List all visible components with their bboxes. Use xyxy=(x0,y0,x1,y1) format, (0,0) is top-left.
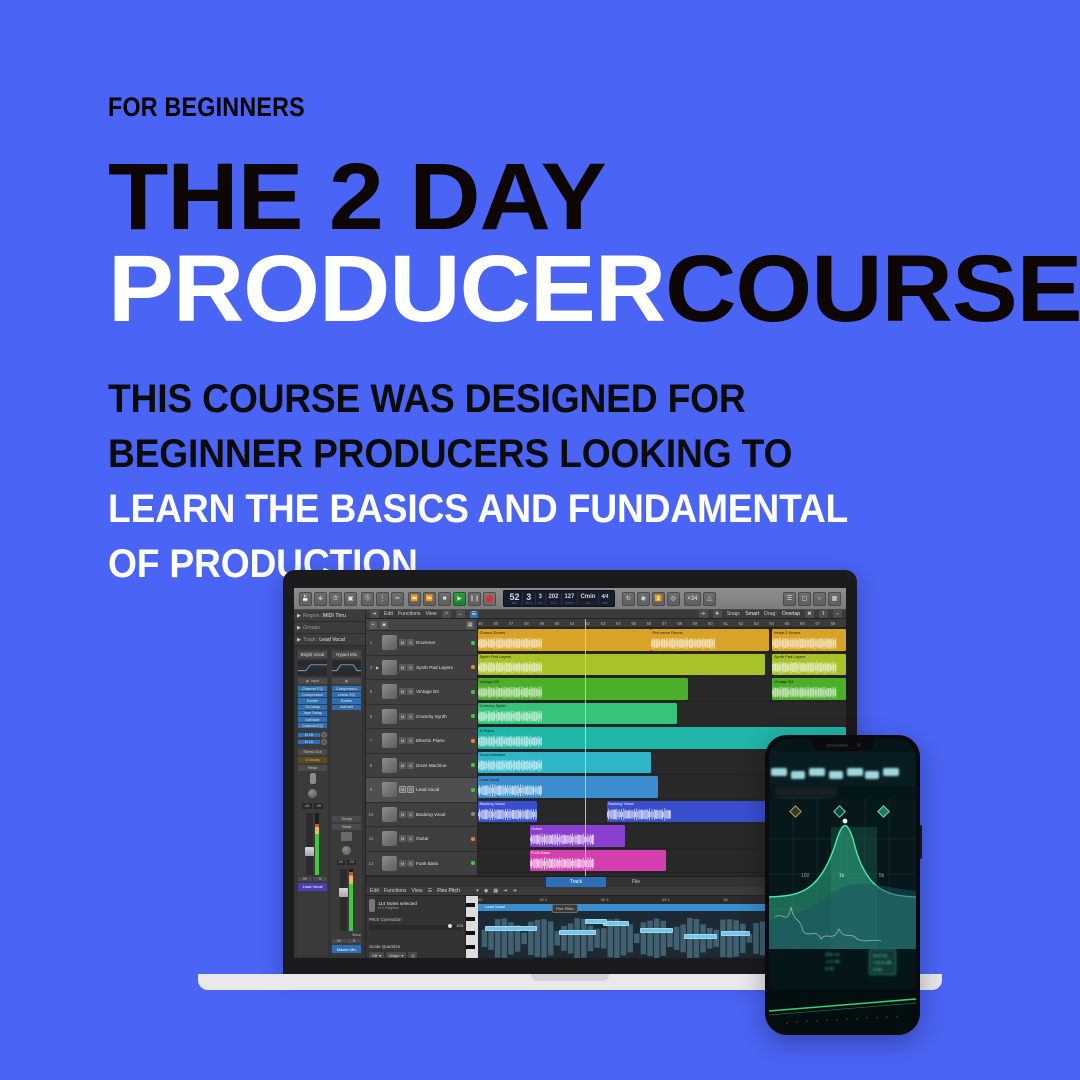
track-config-icon[interactable]: ▤ xyxy=(466,621,474,629)
scissors-icon[interactable]: ✂ xyxy=(391,592,404,606)
track-name: Vintage B3 xyxy=(416,689,469,694)
list-editors-icon[interactable]: ☰ xyxy=(783,592,796,606)
mute-button[interactable]: M xyxy=(399,737,406,744)
eq-thumbnail[interactable] xyxy=(332,660,361,676)
flex-tool-icon[interactable]: ↔ xyxy=(456,610,465,618)
solo-button[interactable]: S xyxy=(347,939,361,943)
region-waveform xyxy=(772,686,836,699)
lcd-key: Cmin KEY xyxy=(578,593,599,605)
solo-icon[interactable]: ◎ xyxy=(667,592,680,606)
pitch-correction-value: 100 xyxy=(456,923,463,928)
chevron-down-icon: ▾ xyxy=(379,953,381,958)
microphone-icon[interactable] xyxy=(382,782,397,797)
track-name: Synth Pad Layers xyxy=(416,665,469,670)
volume-fader[interactable] xyxy=(340,869,347,931)
level-value[interactable]: -99 xyxy=(314,803,324,808)
daw-window: 💾 ⎈ ⏱ ▣ Ⓢ ⋮ ✂ ⏪ ⏩ ■ ▶ ❙ xyxy=(294,588,846,958)
record-enable-indicator[interactable] xyxy=(471,788,475,792)
drag-value[interactable]: Overlap xyxy=(782,611,800,617)
mute-button[interactable]: M xyxy=(399,860,406,867)
waveform-clip[interactable] xyxy=(791,771,805,779)
lcd-tempo-value: 127 xyxy=(564,593,574,602)
add-track-icon[interactable]: + xyxy=(369,621,377,629)
channel-track-name[interactable]: Master Mix xyxy=(332,945,361,953)
send-knob[interactable] xyxy=(321,739,327,745)
flex-pitch-note[interactable] xyxy=(721,931,750,936)
region[interactable]: Crunchy Synth xyxy=(478,703,677,725)
plugin-list: Channel EQ Compressor Exciter St-Delay T… xyxy=(298,686,327,728)
region[interactable]: Funk Bass xyxy=(530,850,666,872)
channel-strip-bright-vocal[interactable]: Bright Vocal ◉ Input xyxy=(297,649,328,955)
record-enable-indicator[interactable] xyxy=(471,763,475,767)
mute-button[interactable]: M xyxy=(399,664,406,671)
solo-button[interactable]: S xyxy=(407,786,414,793)
flex-active-icon[interactable]: ☰ xyxy=(470,611,479,618)
region[interactable]: Lead Vocal xyxy=(478,776,658,798)
track-row[interactable]: 6MSCrunchy Synth xyxy=(366,705,477,730)
mute-button[interactable]: M xyxy=(399,688,406,695)
ruler-tick: 56 xyxy=(647,621,652,626)
region-name: Vintage B3 xyxy=(478,678,688,684)
record-enable-indicator[interactable] xyxy=(471,861,475,865)
drummer-icon[interactable] xyxy=(382,635,397,650)
region-name: Funk Bass xyxy=(530,850,666,856)
region[interactable]: Verse 2 Drums xyxy=(772,629,846,651)
flex-enable-icon[interactable]: ☰ xyxy=(428,888,433,894)
plugin-slot[interactable]: Channel EQ xyxy=(298,723,327,728)
metronome-icon[interactable]: Ⓢ xyxy=(361,592,374,606)
solo-button[interactable]: S xyxy=(313,877,327,881)
replace-icon[interactable]: ◉ xyxy=(637,592,650,606)
region-name: Chorus Drums xyxy=(478,629,651,635)
headline-producer-word: PRODUCER xyxy=(108,236,665,342)
track-number: 10 xyxy=(368,812,374,817)
eq-graph[interactable]: 100 1k 5k xyxy=(769,799,916,973)
menu-functions[interactable]: Functions xyxy=(398,611,421,617)
toolbar-far-right-group: ☰ ▢ ○ ▦ xyxy=(783,592,841,606)
lcd-tick: 202 TICK xyxy=(546,593,562,605)
group-slot[interactable]: Group xyxy=(332,816,361,822)
zoom-icon[interactable]: ⇔ xyxy=(833,610,842,618)
window-icon[interactable]: ▣ xyxy=(344,592,357,606)
input-slot[interactable]: ◉ xyxy=(332,678,361,684)
headline-line-1-text: THE 2 DAY xyxy=(108,153,606,241)
region-name: Drum Machine xyxy=(478,752,651,758)
forward-icon[interactable]: ⏩ xyxy=(423,592,436,606)
region-waveform xyxy=(478,759,542,772)
track-number: 2 xyxy=(368,665,374,670)
eq-thumbnail[interactable] xyxy=(298,660,327,676)
record-enable-indicator[interactable] xyxy=(471,641,475,645)
record-icon[interactable] xyxy=(483,592,496,606)
waveform-clip[interactable] xyxy=(883,768,899,776)
lcd-display[interactable]: 52 BAR 3 BEAT 3 DIV 202 xyxy=(503,590,615,607)
phone-mockup: 100 1k 5k 265 Hz -4.0 dB 0.30 xyxy=(765,735,920,1035)
level-value[interactable]: -08 xyxy=(347,860,357,865)
plugin-slot[interactable]: Tape Delay xyxy=(298,711,327,716)
region-waveform xyxy=(478,784,542,797)
lcd-beat-value: 3 xyxy=(526,593,531,602)
piano-key-black[interactable] xyxy=(466,945,475,949)
plugin-slot[interactable]: DeEsser xyxy=(298,717,327,722)
svg-text:5k: 5k xyxy=(879,873,885,879)
bass-amp-icon[interactable] xyxy=(382,856,397,871)
mute-solo-row: M S xyxy=(298,877,327,881)
secondary-tool-icon[interactable]: ✚ xyxy=(713,610,722,618)
region[interactable]: Drum Machine xyxy=(478,752,651,774)
input-slot[interactable]: ◉ Input xyxy=(298,678,327,684)
region-name: Vintage B3 xyxy=(772,678,846,684)
fade-tool-icon[interactable]: ‖ xyxy=(819,610,828,618)
low-latency-icon[interactable]: ⏫ xyxy=(652,592,665,606)
plugin-slot[interactable]: Linear EQ xyxy=(332,692,361,697)
body-line-1: THIS COURSE WAS DESIGNED FOR xyxy=(108,372,945,427)
pitch-correction-slider[interactable]: 100 xyxy=(369,925,462,930)
plugin-slot[interactable]: Channel EQ xyxy=(298,686,327,691)
automation-mode[interactable]: Read xyxy=(298,765,327,771)
ruler-tick: 50 xyxy=(555,621,560,626)
lcd-beat: 3 BEAT xyxy=(523,593,536,605)
ruler-tick: 48 xyxy=(524,621,529,626)
notes-icon[interactable]: ○ xyxy=(813,592,826,606)
camera-icon xyxy=(857,743,861,747)
ruler-tick: 49 xyxy=(539,621,544,626)
level-readouts: -65 -99 xyxy=(298,803,327,808)
flex-pitch-note[interactable] xyxy=(559,930,596,935)
scale-type-select[interactable]: Major▾ xyxy=(386,952,406,958)
marquee-icon[interactable]: ✖ xyxy=(805,610,814,618)
organ-icon[interactable] xyxy=(382,684,397,699)
record-enable-indicator[interactable] xyxy=(471,690,475,694)
synth-icon[interactable] xyxy=(382,660,397,675)
region[interactable]: Synth Pad Layers xyxy=(772,654,846,676)
phone-screen[interactable]: 100 1k 5k 265 Hz -4.0 dB 0.30 xyxy=(769,739,916,1031)
flex-mode-b-icon[interactable]: ▦ xyxy=(493,888,498,894)
quantize-button[interactable]: Q xyxy=(408,952,417,958)
solo-button[interactable]: S xyxy=(407,737,414,744)
inspector-track-label: Track: xyxy=(303,637,317,643)
drag-label: Drag: xyxy=(764,611,777,617)
disclosure-triangle-icon[interactable]: ▶ xyxy=(376,665,380,670)
track-stack-icon[interactable]: ■ xyxy=(380,621,388,629)
tuner-icon[interactable]: ⋮ xyxy=(376,592,389,606)
flex-pitch-controls: 114 Notes selected in 2 Regions Pitch Co… xyxy=(366,896,466,958)
volume-fader[interactable] xyxy=(306,813,313,875)
pan-value[interactable]: -65 xyxy=(302,803,312,808)
pointer-tool-icon[interactable]: ➔ xyxy=(370,610,379,618)
level-meter xyxy=(315,813,319,875)
count-in-icon[interactable]: ×34 xyxy=(684,592,701,606)
pan-value[interactable]: 00 xyxy=(337,860,345,865)
channel-strip-hyped-mix[interactable]: Hyped Mix ◉ Compressor xyxy=(331,649,362,955)
pointer-tool-icon[interactable]: ➔ xyxy=(503,888,507,894)
mute-button[interactable]: M xyxy=(399,713,406,720)
region[interactable]: Backing Vocal xyxy=(478,801,537,823)
flex-pitch-note[interactable] xyxy=(603,921,629,926)
track-row[interactable]: 2▶MSSynth Pad Layers xyxy=(366,656,477,681)
track-row[interactable]: 12MSFunk Bass xyxy=(366,852,477,877)
region-lane[interactable]: Chorus DrumsPre-verse DrumsVerse 2 Drums xyxy=(478,628,846,653)
scale-quantize-group: Scale Quantize Off▾ Major▾ Q xyxy=(369,944,462,958)
mute-button[interactable]: M xyxy=(332,939,346,943)
ruler-tick: 53 xyxy=(601,621,606,626)
cycle-icon[interactable]: ↻ xyxy=(622,592,635,606)
flex-pitch-note[interactable] xyxy=(585,919,607,924)
automation-mode[interactable]: Read xyxy=(332,824,361,830)
track-number: 11 xyxy=(368,836,374,841)
bounce-label[interactable]: Bnce xyxy=(332,933,361,937)
waveform-clip[interactable] xyxy=(847,768,863,776)
save-icon[interactable]: 💾 xyxy=(299,592,312,606)
output-slot[interactable]: Stereo Out xyxy=(298,749,327,755)
inspector-track-row[interactable]: ▶ Track: Lead Vocal xyxy=(294,634,365,646)
track-number: 7 xyxy=(368,738,374,743)
track-mute-solo: MS xyxy=(399,737,414,744)
arrange-menubar: ➔ Edit Functions View ↗ ↔ ☰ ➔ ✚ Snap: Sm… xyxy=(366,610,846,619)
send-knob[interactable] xyxy=(321,732,327,738)
eq-band-3-q: 0.80 xyxy=(873,966,892,973)
editor-menu-edit[interactable]: Edit xyxy=(370,888,379,894)
track-row[interactable]: 7MSElectric Piano xyxy=(366,729,477,754)
lcd-signature-value: 4/4 xyxy=(601,593,608,602)
ruler-tick: 57 xyxy=(662,621,667,626)
record-enable-indicator[interactable] xyxy=(471,812,475,816)
plugin-slot[interactable]: Exciter xyxy=(298,698,327,703)
send-slot[interactable]: B 15 xyxy=(298,739,327,745)
track-name: Guitar xyxy=(416,836,469,841)
lcd-signature: 4/4 TIME xyxy=(599,593,611,605)
guitar-amp-icon[interactable] xyxy=(382,831,397,846)
solo-button[interactable]: S xyxy=(407,688,414,695)
region-waveform xyxy=(530,857,594,870)
stop-icon[interactable]: ■ xyxy=(438,592,451,606)
solo-button[interactable]: S xyxy=(407,860,414,867)
toolbar-countin-group: ×34 △ xyxy=(684,592,716,606)
region-name: Synth Pad Layers xyxy=(478,654,765,660)
lcd-bar: 52 BAR xyxy=(507,593,523,605)
waveform-clip[interactable] xyxy=(771,768,787,776)
scale-quantize-select[interactable]: Off▾ xyxy=(369,952,384,958)
plugin-slot[interactable]: St-Delay xyxy=(298,705,327,710)
play-icon[interactable]: ▶ xyxy=(453,592,466,606)
menu-edit[interactable]: Edit xyxy=(384,611,393,617)
mute-button[interactable]: M xyxy=(399,762,406,769)
lcd-div-label: DIV xyxy=(538,602,542,605)
input-slot-label: Input xyxy=(311,679,319,683)
track-number: 9 xyxy=(368,787,374,792)
ruler-tick: 63 xyxy=(754,621,759,626)
waveform-overview[interactable] xyxy=(769,752,916,786)
tab-file[interactable]: File xyxy=(606,877,666,887)
region[interactable]: Vintage B3 xyxy=(772,678,846,700)
chevron-down-icon[interactable]: ▾ xyxy=(476,888,479,894)
waveform-clip[interactable] xyxy=(809,768,825,776)
piano-keyboard[interactable] xyxy=(466,896,478,958)
send-slot[interactable]: B 15 xyxy=(298,732,327,738)
solo-button[interactable]: S xyxy=(407,664,414,671)
bar-ruler[interactable]: 4546474849505152535455565758596061626364… xyxy=(478,619,846,628)
waveform-clip[interactable] xyxy=(829,771,843,779)
track-row[interactable]: 11MSGuitar xyxy=(366,827,477,852)
region[interactable]: Synth Pad Layers xyxy=(478,654,765,676)
tab-track[interactable]: Track xyxy=(546,877,606,887)
editor-ruler-tick: 45 4 xyxy=(662,897,670,902)
laptop-screen: 💾 ⎈ ⏱ ▣ Ⓢ ⋮ ✂ ⏪ ⏩ ■ ▶ ❙ xyxy=(294,588,846,958)
lcd-bar-label: BAR xyxy=(512,602,517,605)
piano-key-black[interactable] xyxy=(466,931,475,935)
inspector-groups-row[interactable]: ▶ Groups xyxy=(294,622,365,634)
solo-button[interactable]: S xyxy=(407,713,414,720)
region-name: Synth Pad Layers xyxy=(772,654,846,660)
microphone-icon xyxy=(369,899,375,912)
region[interactable]: Pre-verse Drums xyxy=(651,629,769,651)
track-mute-solo: MS xyxy=(399,664,414,671)
track-row[interactable]: 8MSDrum Machine xyxy=(366,754,477,779)
pause-icon[interactable]: ❙❙ xyxy=(468,592,481,606)
track-row[interactable]: 10MSBacking Vocal xyxy=(366,803,477,828)
send-label: B 15 xyxy=(298,733,320,737)
pan-knob[interactable] xyxy=(307,788,318,799)
lcd-bar-value: 52 xyxy=(510,593,520,602)
region[interactable]: Vintage B3 xyxy=(478,678,688,700)
playhead[interactable] xyxy=(585,619,586,876)
track-list: + ■ ▤ 1MSDrummer2▶MSSynth Pad Layers5MSV… xyxy=(366,619,478,876)
lcd-beat-label: BEAT xyxy=(526,602,533,605)
record-enable-indicator[interactable] xyxy=(471,837,475,841)
region-lane[interactable]: Vintage B3Vintage B3 xyxy=(478,677,846,702)
solo-button[interactable]: S xyxy=(407,639,414,646)
scale-quantize-controls: Off▾ Major▾ Q xyxy=(369,952,462,958)
drum-machine-icon[interactable] xyxy=(382,758,397,773)
eq-band-3-readout[interactable]: 610 Hz +12.5 dB 0.80 xyxy=(869,949,896,975)
clock-icon[interactable]: ⏱ xyxy=(329,592,342,606)
loop-browser-icon[interactable]: ▢ xyxy=(798,592,811,606)
track-title-placeholder xyxy=(775,787,837,796)
region-name: Crunchy Synth xyxy=(478,703,677,709)
inspector-track-value: Lead Vocal xyxy=(319,637,345,643)
inspector-region-row[interactable]: ▶ Region: MIDI Thru xyxy=(294,610,365,622)
scale-type-value: Major xyxy=(389,953,399,958)
tool-selector-icon[interactable]: ➔ xyxy=(699,610,708,618)
mute-solo-row: M S xyxy=(332,939,361,943)
flex-pitch-note[interactable] xyxy=(640,928,673,933)
track-rows: 1MSDrummer2▶MSSynth Pad Layers5MSVintage… xyxy=(366,631,477,876)
mute-button[interactable]: M xyxy=(399,835,406,842)
flex-pitch-note[interactable] xyxy=(485,926,537,931)
editor-ruler-tick: 45 3 xyxy=(601,897,609,902)
mute-button[interactable]: M xyxy=(399,811,406,818)
phone-power-button[interactable] xyxy=(920,825,922,859)
track-row[interactable]: 1MSDrummer xyxy=(366,631,477,656)
flex-mode-a-icon[interactable]: ◉ xyxy=(484,888,489,894)
menu-view[interactable]: View xyxy=(425,611,436,617)
plugin-slot[interactable]: Compressor xyxy=(298,692,327,697)
piano-key-black[interactable] xyxy=(466,903,475,907)
eq-band-2-freq: 265 Hz xyxy=(825,951,840,958)
track-number: 6 xyxy=(368,714,374,719)
editor-menu-view[interactable]: View xyxy=(411,888,422,894)
ruler-tick: 47 xyxy=(509,621,514,626)
editor-ruler-tick: 45 2 xyxy=(539,897,547,902)
snap-value[interactable]: Smart xyxy=(745,611,759,617)
channel-track-name[interactable]: Lead Vocal xyxy=(298,883,327,891)
eq-band-2-readout[interactable]: 265 Hz -4.0 dB 0.30 xyxy=(825,951,840,972)
mute-button[interactable]: M xyxy=(399,786,406,793)
synth-lead-icon[interactable] xyxy=(382,709,397,724)
power-icon[interactable]: ⎈ xyxy=(314,592,327,606)
region-waveform xyxy=(772,637,836,650)
mute-button[interactable]: M xyxy=(298,877,312,881)
region-waveform xyxy=(607,808,671,821)
track-mute-solo: MS xyxy=(399,639,414,646)
pan-knob[interactable] xyxy=(341,845,352,856)
region[interactable]: Chorus Drums xyxy=(478,629,651,651)
region-lane[interactable]: Synth Pad LayersSynth Pad Layers xyxy=(478,653,846,678)
mute-button[interactable]: M xyxy=(399,639,406,646)
solo-button[interactable]: S xyxy=(407,811,414,818)
inspector-panel: ▶ Region: MIDI Thru ▶ Groups ▶ Track: Le… xyxy=(294,610,366,958)
fader-zone xyxy=(340,869,353,931)
lcd-tick-label: TICK xyxy=(550,602,556,605)
editor-mode-select[interactable]: Flex Pitch xyxy=(437,888,471,894)
ruler-tick: 65 xyxy=(785,621,790,626)
rewind-icon[interactable]: ⏪ xyxy=(408,592,421,606)
lcd-signature-label: TIME xyxy=(602,602,608,605)
group-slot[interactable]: 1/Vocals xyxy=(298,757,327,763)
plugin-slot[interactable]: Exciter xyxy=(332,698,361,703)
library-icon[interactable]: ▦ xyxy=(828,592,841,606)
svg-text:100: 100 xyxy=(801,873,810,879)
track-name: Drummer xyxy=(416,640,469,645)
output-icon xyxy=(341,832,352,841)
track-row[interactable]: 9MSLead Vocal xyxy=(366,778,477,803)
plugin-slot[interactable]: AdLimit xyxy=(332,705,361,710)
eq-readouts: 265 Hz -4.0 dB 0.30 610 Hz +12.5 dB 0.80 xyxy=(769,951,916,987)
solo-button[interactable]: S xyxy=(407,835,414,842)
track-row[interactable]: 5MSVintage B3 xyxy=(366,680,477,705)
track-number: 8 xyxy=(368,763,374,768)
phone-bottom-bar xyxy=(769,989,916,1031)
metronome-toggle-icon[interactable]: △ xyxy=(703,592,716,606)
editor-menu-functions[interactable]: Functions xyxy=(384,888,407,894)
record-enable-indicator[interactable] xyxy=(471,739,475,743)
body-copy: THIS COURSE WAS DESIGNED FOR BEGINNER PR… xyxy=(108,372,1008,593)
daw-main-row: ▶ Region: MIDI Thru ▶ Groups ▶ Track: Le… xyxy=(294,610,846,958)
region-name: Pre-verse Drums xyxy=(651,629,769,635)
epiano-icon[interactable] xyxy=(382,733,397,748)
toolbar-right-group: ↻ ◉ ⏫ ◎ xyxy=(622,592,680,606)
region-waveform xyxy=(478,637,542,650)
record-enable-indicator[interactable] xyxy=(471,714,475,718)
headline-course-word: COURSE xyxy=(665,236,1080,342)
region[interactable]: Guitar xyxy=(530,825,626,847)
region-lane[interactable]: Crunchy Synth xyxy=(478,702,846,727)
choir-icon[interactable] xyxy=(382,807,397,822)
record-enable-indicator[interactable] xyxy=(471,665,475,669)
track-number: 1 xyxy=(368,640,374,645)
inspector-groups-label: Groups xyxy=(303,625,320,631)
waveform-clip[interactable] xyxy=(865,771,879,779)
alt-tool-icon[interactable]: ➔ xyxy=(513,888,517,894)
piano-key-black[interactable] xyxy=(466,917,475,921)
automation-icon[interactable]: ↗ xyxy=(442,610,451,618)
flex-pitch-note[interactable] xyxy=(684,934,717,939)
solo-button[interactable]: S xyxy=(407,762,414,769)
plugin-slot[interactable]: Compressor xyxy=(332,686,361,691)
flex-pitch-tag[interactable]: Flex Pitch xyxy=(552,904,578,913)
region-waveform xyxy=(478,735,542,748)
send-list: B 15 B 15 xyxy=(298,732,327,745)
